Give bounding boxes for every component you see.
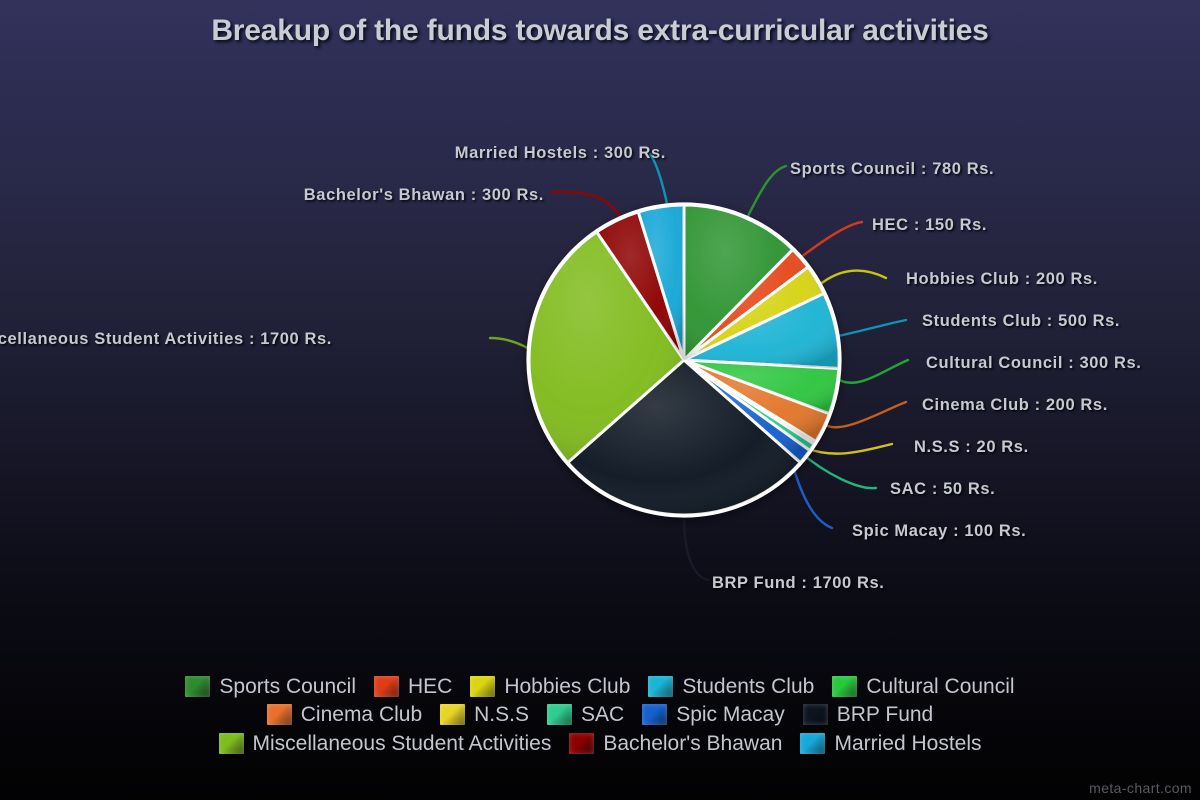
leader-line-brp-fund	[684, 516, 708, 580]
leader-line-cultural-council	[836, 360, 908, 383]
legend-swatch-icon	[803, 704, 828, 725]
chart-legend: Sports Council HEC Hobbies Club Students…	[0, 672, 1200, 758]
legend-swatch-icon	[547, 704, 572, 725]
callout-sports-council: Sports Council : 780 Rs.	[790, 160, 994, 179]
legend-label: BRP Fund	[837, 704, 934, 725]
legend-swatch-icon	[185, 676, 210, 697]
legend-swatch-icon	[648, 676, 673, 697]
legend-label: Sports Council	[219, 676, 356, 697]
legend-swatch-icon	[832, 676, 857, 697]
watermark: meta-chart.com	[1089, 780, 1192, 796]
legend-item-cinema-club[interactable]: Cinema Club	[267, 704, 422, 725]
callout-spic-macay: Spic Macay : 100 Rs.	[852, 522, 1026, 541]
leader-line-sports-council	[748, 166, 786, 216]
legend-label: Miscellaneous Student Activities	[253, 733, 552, 754]
leader-line-cinema-club	[824, 402, 906, 427]
legend-item-nss[interactable]: N.S.S	[440, 704, 529, 725]
legend-label: Cultural Council	[866, 676, 1014, 697]
legend-item-sports-council[interactable]: Sports Council	[185, 676, 356, 697]
legend-label: Students Club	[682, 676, 814, 697]
callout-misc-student: Miscellaneous Student Activities : 1700 …	[0, 330, 332, 349]
legend-label: Married Hostels	[834, 733, 981, 754]
callout-sac: SAC : 50 Rs.	[890, 480, 995, 499]
leader-line-hec	[800, 222, 862, 258]
callout-married-hostels: Married Hostels : 300 Rs.	[455, 144, 666, 163]
legend-label: N.S.S	[474, 704, 529, 725]
callout-brp-fund: BRP Fund : 1700 Rs.	[712, 574, 884, 593]
legend-swatch-icon	[267, 704, 292, 725]
leader-line-hobbies-club	[818, 271, 886, 286]
legend-item-hobbies-club[interactable]: Hobbies Club	[470, 676, 630, 697]
legend-label: Bachelor's Bhawan	[603, 733, 782, 754]
leader-line-sac	[800, 452, 876, 488]
leader-line-students-club	[838, 320, 906, 336]
legend-item-sac[interactable]: SAC	[547, 704, 624, 725]
legend-swatch-icon	[569, 733, 594, 754]
legend-swatch-icon	[440, 704, 465, 725]
legend-label: HEC	[408, 676, 452, 697]
legend-label: Cinema Club	[301, 704, 422, 725]
legend-swatch-icon	[470, 676, 495, 697]
legend-item-bachelors-bhawan[interactable]: Bachelor's Bhawan	[569, 733, 782, 754]
legend-row: Miscellaneous Student Activities Bachelo…	[0, 729, 1200, 758]
legend-swatch-icon	[800, 733, 825, 754]
legend-item-brp-fund[interactable]: BRP Fund	[803, 704, 934, 725]
legend-label: Hobbies Club	[504, 676, 630, 697]
callout-cinema-club: Cinema Club : 200 Rs.	[922, 396, 1108, 415]
callout-bachelors-bhawan: Bachelor's Bhawan : 300 Rs.	[304, 186, 544, 205]
callout-hec: HEC : 150 Rs.	[872, 216, 987, 235]
legend-label: Spic Macay	[676, 704, 785, 725]
pie-chart-page: Breakup of the funds towards extra-curri…	[0, 0, 1200, 800]
legend-item-married-hostels[interactable]: Married Hostels	[800, 733, 981, 754]
legend-swatch-icon	[374, 676, 399, 697]
legend-item-spic-macay[interactable]: Spic Macay	[642, 704, 785, 725]
callout-students-club: Students Club : 500 Rs.	[922, 312, 1120, 331]
callout-hobbies-club: Hobbies Club : 200 Rs.	[906, 270, 1098, 289]
legend-swatch-icon	[219, 733, 244, 754]
legend-swatch-icon	[642, 704, 667, 725]
legend-row: Sports Council HEC Hobbies Club Students…	[0, 672, 1200, 701]
callout-nss: N.S.S : 20 Rs.	[914, 438, 1029, 457]
legend-item-hec[interactable]: HEC	[374, 676, 452, 697]
legend-row: Cinema Club N.S.S SAC Spic Macay BRP Fun…	[0, 701, 1200, 730]
callout-cultural-council: Cultural Council : 300 Rs.	[926, 354, 1141, 373]
legend-label: SAC	[581, 704, 624, 725]
pie-slices-group	[529, 205, 839, 515]
legend-item-students-club[interactable]: Students Club	[648, 676, 814, 697]
leader-line-nss	[806, 444, 892, 454]
legend-item-cultural-council[interactable]: Cultural Council	[832, 676, 1014, 697]
legend-item-misc-student-activities[interactable]: Miscellaneous Student Activities	[219, 733, 552, 754]
